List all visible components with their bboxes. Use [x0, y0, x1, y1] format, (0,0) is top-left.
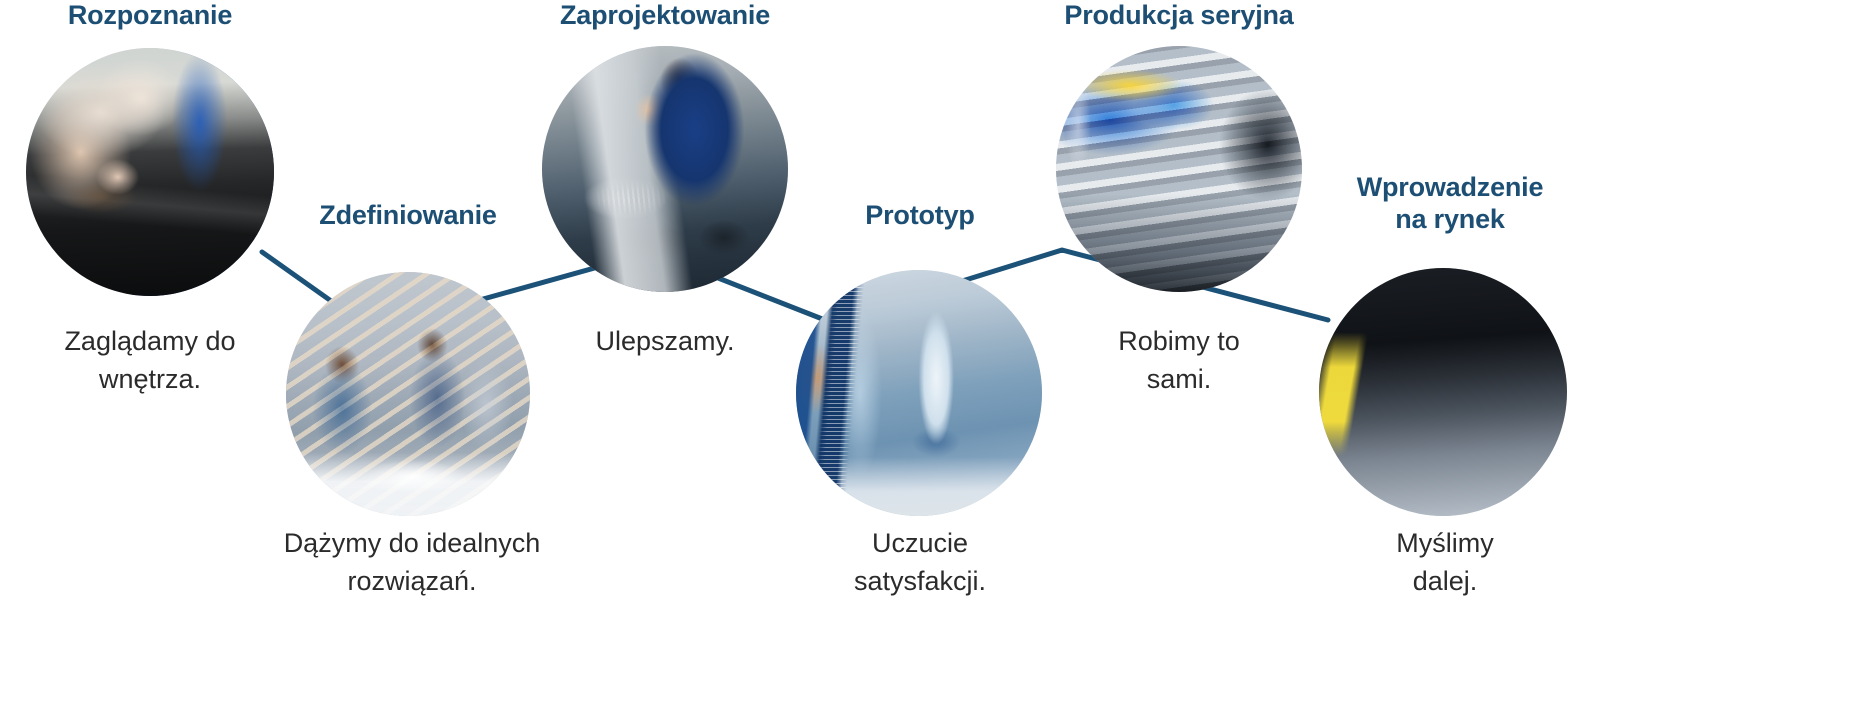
photo-hand-applying-hd-label	[1319, 268, 1567, 516]
stage-image-produkcja-seryjna	[1056, 46, 1302, 292]
stage-title-wprowadzenie-na-rynek: Wprowadzenie na rynek	[1325, 172, 1575, 236]
photo-row-of-shock-absorbers	[1056, 46, 1302, 292]
stage-caption-zaprojektowanie: Ulepszamy.	[545, 322, 785, 360]
stage-title-zaprojektowanie: Zaprojektowanie	[535, 0, 795, 32]
stage-caption-zdefiniowanie: Dążymy do idealnych rozwiązań.	[252, 524, 572, 601]
stage-image-zdefiniowanie	[286, 272, 530, 516]
stage-caption-rozpoznanie: Zaglądamy do wnętrza.	[10, 322, 290, 399]
photo-cad-screen-3d-part	[796, 270, 1042, 516]
photo-team-discussing-plans	[286, 272, 530, 516]
stage-image-prototyp	[796, 270, 1042, 516]
photo-technician-with-laptop	[542, 46, 788, 292]
stage-image-wprowadzenie-na-rynek	[1319, 268, 1567, 516]
stage-image-zaprojektowanie	[542, 46, 788, 292]
infographic-root: Rozpoznanie Zaglądamy do wnętrza. Zdefin…	[0, 0, 1869, 705]
stage-title-zdefiniowanie: Zdefiniowanie	[288, 200, 528, 232]
stage-caption-prototyp: Uczucie satysfakcji.	[800, 524, 1040, 601]
stage-title-prototyp: Prototyp	[800, 200, 1040, 232]
stage-caption-wprowadzenie-na-rynek: Myślimy dalej.	[1325, 524, 1565, 601]
stage-image-rozpoznanie	[26, 48, 274, 296]
photo-mechanic-opening-car-hood	[26, 48, 274, 296]
stage-title-rozpoznanie: Rozpoznanie	[20, 0, 280, 32]
stage-caption-produkcja-seryjna: Robimy to sami.	[1059, 322, 1299, 399]
stage-title-produkcja-seryjna: Produkcja seryjna	[1049, 0, 1309, 32]
